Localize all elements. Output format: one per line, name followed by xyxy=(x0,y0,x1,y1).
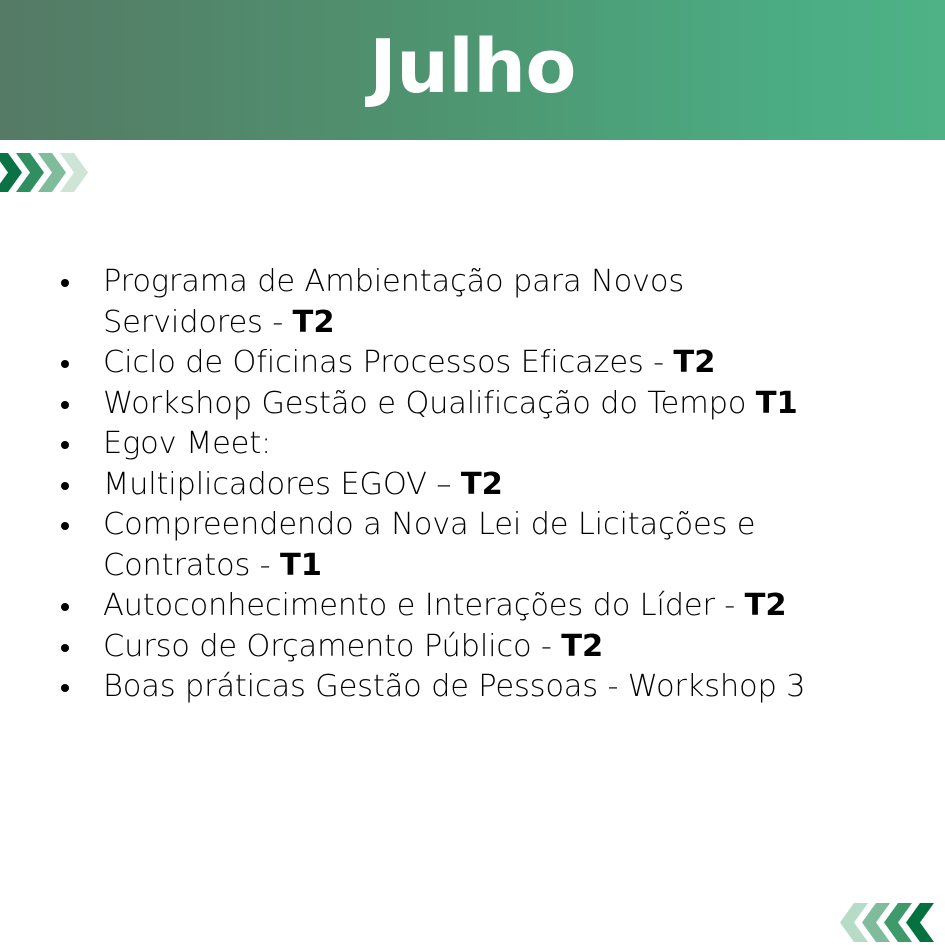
bullet-icon xyxy=(61,482,69,490)
list-item-label: Programa de Ambientação para Novos Servi… xyxy=(103,264,684,340)
list-item-label: Compreendendo a Nova Lei de Licitações e… xyxy=(103,507,755,583)
list-item-label: Autoconhecimento e Interações do Líder - xyxy=(103,588,745,623)
turma-badge: T2 xyxy=(293,305,335,340)
chevron-right-icon-4 xyxy=(60,153,88,192)
list-item-label: Workshop Gestão e Qualificação do Tempo xyxy=(103,386,756,421)
bullet-icon xyxy=(61,360,69,368)
list-item: Boas práticas Gestão de Pessoas - Worksh… xyxy=(0,667,945,708)
turma-badge: T1 xyxy=(756,386,798,421)
turma-badge: T2 xyxy=(745,588,787,623)
bullet-icon xyxy=(61,522,69,530)
bullet-icon xyxy=(61,441,69,449)
turma-badge: T2 xyxy=(461,467,503,502)
agenda-content: Programa de Ambientação para Novos Servi… xyxy=(0,262,945,708)
list-item: Curso de Orçamento Público - T2 xyxy=(0,627,945,668)
chevron-left-icon-4 xyxy=(906,903,934,942)
bullet-icon xyxy=(61,279,69,287)
turma-badge: T2 xyxy=(561,629,603,664)
chevron-left-group xyxy=(840,903,928,942)
page-title: Julho xyxy=(369,30,576,110)
agenda-list: Programa de Ambientação para Novos Servi… xyxy=(0,262,945,708)
list-item: Ciclo de Oficinas Processos Eficazes - T… xyxy=(0,343,945,384)
list-item-label: Multiplicadores EGOV – xyxy=(103,467,461,502)
chevron-right-group xyxy=(0,153,82,192)
list-item-label: Egov Meet: xyxy=(103,426,271,461)
list-item: Egov Meet: xyxy=(0,424,945,465)
list-item-label: Ciclo de Oficinas Processos Eficazes - xyxy=(103,345,673,380)
list-item: Multiplicadores EGOV – T2 xyxy=(0,465,945,506)
bullet-icon xyxy=(61,684,69,692)
bullet-icon xyxy=(61,603,69,611)
list-item-label: Curso de Orçamento Público - xyxy=(103,629,561,664)
list-item-label: Boas práticas Gestão de Pessoas - Worksh… xyxy=(103,669,805,704)
header-banner: Julho xyxy=(0,0,945,140)
list-item: Programa de Ambientação para Novos Servi… xyxy=(0,262,945,343)
turma-badge: T1 xyxy=(280,548,322,583)
bullet-icon xyxy=(61,401,69,409)
bullet-icon xyxy=(61,644,69,652)
turma-badge: T2 xyxy=(673,345,715,380)
list-item: Workshop Gestão e Qualificação do Tempo … xyxy=(0,384,945,425)
list-item: Autoconhecimento e Interações do Líder -… xyxy=(0,586,945,627)
list-item: Compreendendo a Nova Lei de Licitações e… xyxy=(0,505,945,586)
